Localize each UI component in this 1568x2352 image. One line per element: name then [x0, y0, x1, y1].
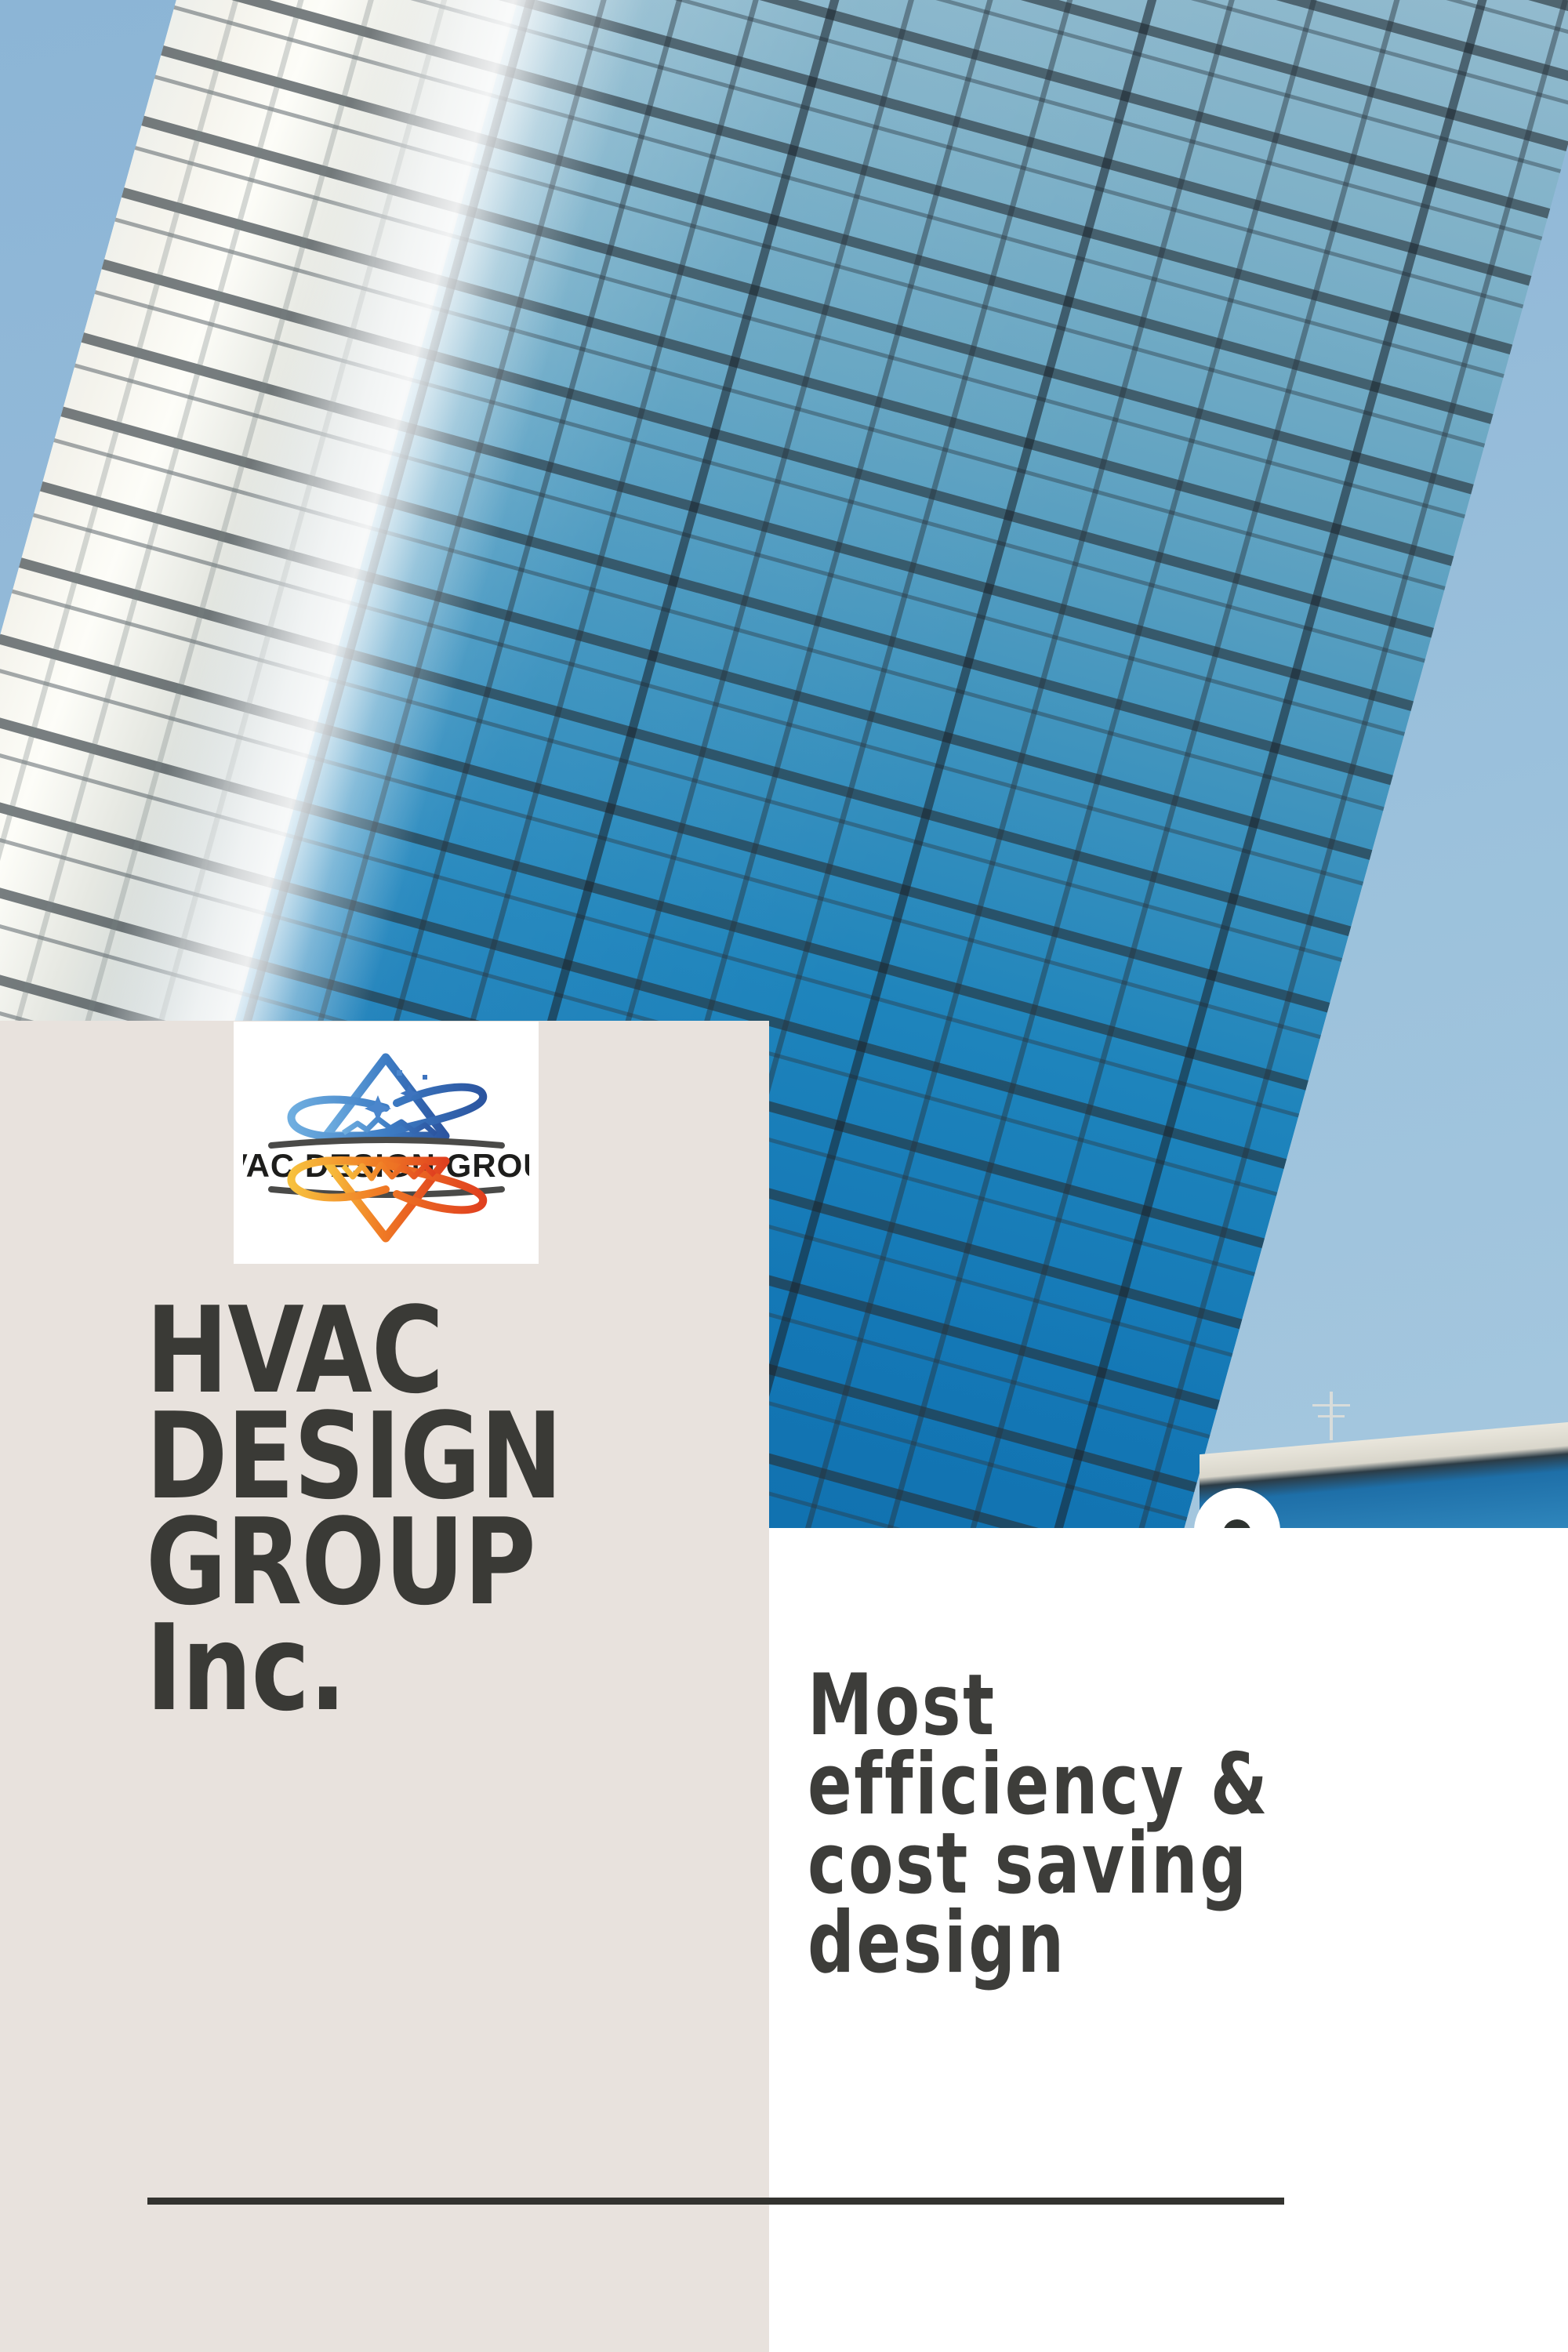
poster-canvas: HVAC DESIGN GROUP HVAC DESIGN GROUP Inc.…	[0, 0, 1568, 2352]
tagline-line-2: efficiency &	[808, 1745, 1414, 1824]
tagline-line-3: cost saving	[808, 1824, 1414, 1904]
logo-container: HVAC DESIGN GROUP	[234, 1022, 539, 1264]
ribbon-loop-upper	[292, 1087, 484, 1137]
tagline-line-4: design	[808, 1904, 1414, 1983]
company-title: HVAC DESIGN GROUP Inc.	[146, 1298, 694, 1721]
sparkle-icon-large	[365, 1095, 391, 1122]
divider-bar-top	[271, 1140, 502, 1145]
tagline-text: Most efficiency & cost saving design	[808, 1666, 1414, 1983]
sparkle-dot-a	[397, 1070, 402, 1076]
sparkle-dot-b	[423, 1075, 427, 1080]
rooftop-antenna-icon	[1330, 1392, 1333, 1440]
footer-divider-rule	[147, 2198, 1284, 2205]
hvac-design-group-logo-icon: HVAC DESIGN GROUP	[243, 1036, 529, 1249]
tagline-line-1: Most	[808, 1666, 1414, 1745]
